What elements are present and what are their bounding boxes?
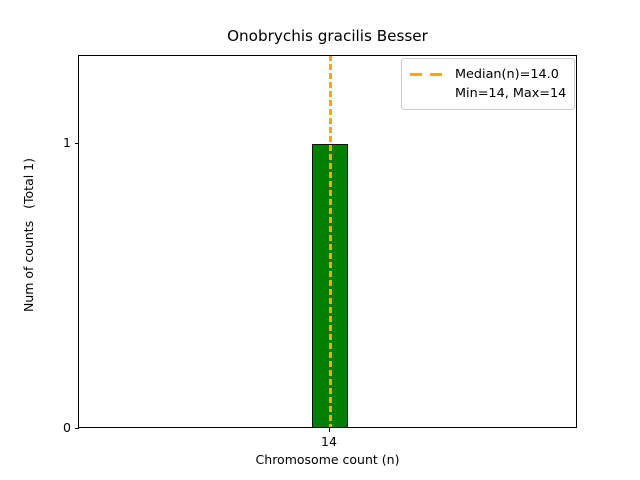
median-line [329, 55, 332, 428]
ytick-mark-1 [75, 143, 79, 144]
ytick-label-0: 0 [11, 422, 71, 435]
legend-entry-median: Median(n)=14.0 [409, 65, 566, 84]
chromosome-count-histogram-figure: Onobrychis gracilis Besser 0 1 14 Chromo… [0, 0, 640, 480]
dashed-line-icon [409, 69, 447, 81]
legend: Median(n)=14.0 Min=14, Max=14 [401, 58, 575, 110]
legend-entry-minmax: Min=14, Max=14 [409, 84, 566, 103]
legend-label-median: Median(n)=14.0 [455, 67, 559, 82]
plot-area [78, 55, 577, 428]
ytick-mark-0 [75, 428, 79, 429]
xtick-label-14: 14 [299, 435, 359, 449]
ytick-labels: 0 1 [8, 0, 71, 480]
chart-title: Onobrychis gracilis Besser [78, 27, 577, 45]
x-axis-label: Chromosome count (n) [78, 453, 577, 467]
xtick-mark-14 [329, 428, 330, 432]
blank-swatch-icon [409, 88, 447, 100]
legend-label-minmax: Min=14, Max=14 [455, 86, 566, 101]
ytick-label-1: 1 [11, 137, 71, 150]
y-axis-label: Num of counts (Total 1) [22, 15, 36, 455]
